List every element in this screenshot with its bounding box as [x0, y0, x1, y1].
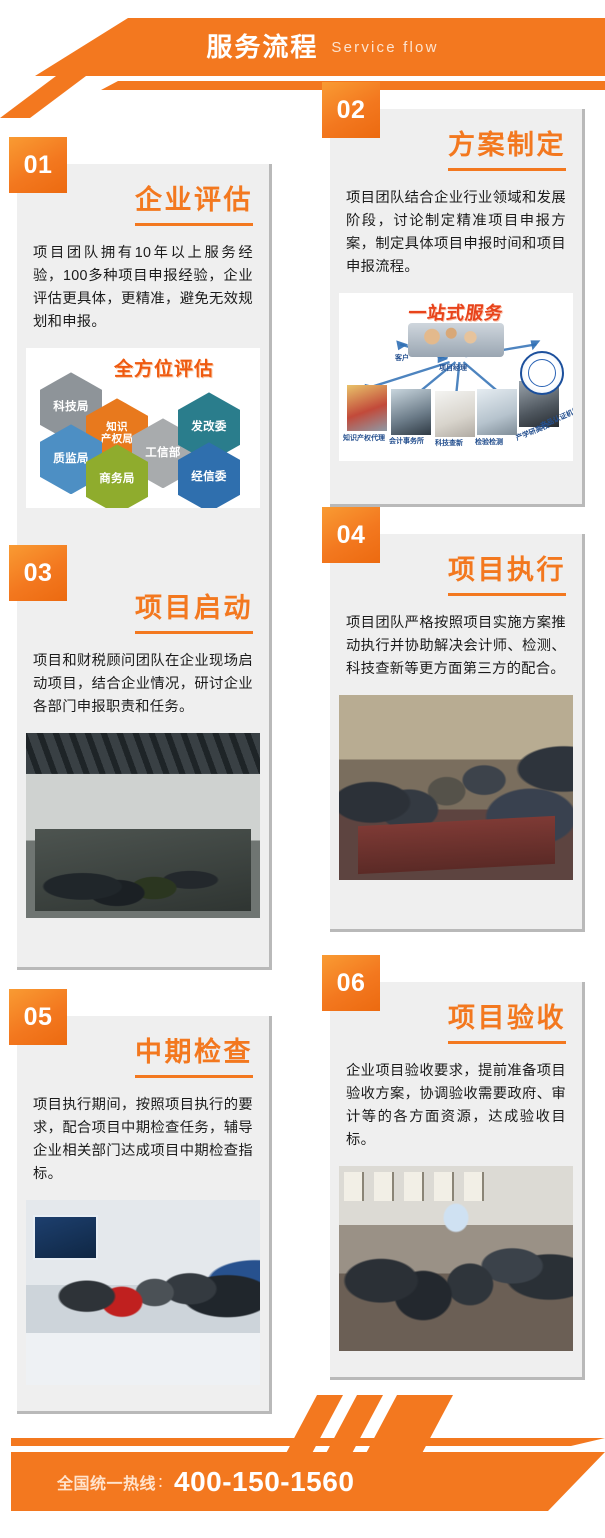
onestop-service-diagram: 一站式服务: [339, 293, 573, 461]
hexagon-evaluation-diagram: 全方位评估 科技局 知识 产权局 质监局 工信部 商务局 发改委 经信委: [26, 348, 260, 508]
photo-showroom-tour: [26, 1200, 260, 1385]
hex-label-1: 知识 产权局: [101, 421, 133, 445]
card-body-06: 企业项目验收要求，提前准备项目验收方案，协调验收需要政府、审计等的各方面资源，达…: [330, 1044, 582, 1163]
chevron-decoration: [300, 1395, 450, 1459]
card-body-02: 项目团队结合企业行业领域和发展阶段，讨论制定精准项目申报方案，制定具体项目申报时…: [330, 171, 582, 290]
card-title-03: 项目启动: [135, 594, 253, 634]
onestop-node-accounting: [391, 389, 431, 435]
step-number-badge-04: 04: [322, 507, 380, 563]
onestop-label-customer: 客户: [395, 353, 409, 363]
process-card-06[interactable]: 06 项目验收 企业项目验收要求，提前准备项目验收方案，协调验收需要政府、审计等…: [330, 982, 585, 1380]
card-media-01: 全方位评估 科技局 知识 产权局 质监局 工信部 商务局 发改委 经信委: [26, 348, 260, 508]
onestop-node-testing: [477, 389, 517, 435]
photo-boardroom-meeting: [339, 1166, 573, 1351]
onestop-label-ip: 知识产权代理: [343, 433, 385, 443]
card-media-03: [26, 733, 260, 918]
onestop-label-accounting: 会计事务所: [389, 436, 424, 446]
card-body-05: 项目执行期间，按照项目执行的要求，配合项目中期检查任务，辅导企业相关部门达成项目…: [17, 1078, 269, 1197]
card-title-05: 中期检查: [135, 1038, 253, 1078]
process-row-2: 03 项目启动 项目和财税顾问团队在企业现场启动项目，结合企业情况，研讨企业各部…: [0, 554, 605, 1004]
process-row-1: 01 企业评估 项目团队拥有10年以上服务经验，100多种项目申报经验，企业评估…: [0, 104, 605, 554]
hex-label-3: 工信部: [145, 447, 180, 460]
process-card-05[interactable]: 05 中期检查 项目执行期间，按照项目执行的要求，配合项目中期检查任务，辅导企业…: [17, 1016, 272, 1414]
card-body-03: 项目和财税顾问团队在企业现场启动项目，结合企业情况，研讨企业各部门申报职责和任务…: [17, 634, 269, 729]
step-number-badge-06: 06: [322, 955, 380, 1011]
process-card-grid: 01 企业评估 项目团队拥有10年以上服务经验，100多种项目申报经验，企业评估…: [0, 104, 605, 1454]
onestop-label-techsearch: 科技查新: [435, 438, 463, 448]
card-body-01: 项目团队拥有10年以上服务经验，100多种项目申报经验，企业评估更具体，更精准，…: [17, 226, 269, 345]
hotline-phone-number[interactable]: 400-150-1560: [174, 1468, 354, 1496]
page-subtitle: Service flow: [331, 40, 438, 55]
process-card-01[interactable]: 01 企业评估 项目团队拥有10年以上服务经验，100多种项目申报经验，企业评估…: [17, 164, 272, 577]
step-number-badge-03: 03: [9, 545, 67, 601]
process-card-04[interactable]: 04 项目执行 项目团队严格按照项目实施方案推动执行并协助解决会计师、检测、科技…: [330, 534, 585, 932]
hex-label-6: 经信委: [191, 471, 226, 484]
step-number-badge-02: 02: [322, 82, 380, 138]
process-card-02[interactable]: 02 方案制定 项目团队结合企业行业领域和发展阶段，讨论制定精准项目申报方案，制…: [330, 109, 585, 507]
onestop-diagram-title: 一站式服务: [407, 299, 506, 325]
card-title-06: 项目验收: [448, 1004, 566, 1044]
card-body-04: 项目团队严格按照项目实施方案推动执行并协助解决会计师、检测、科技查新等更方面第三…: [330, 596, 582, 691]
photo-meeting-laptops: [339, 695, 573, 880]
header-accent-stripe: [0, 81, 605, 90]
hex-label-2: 质监局: [53, 453, 88, 466]
onestop-label-manager: 项目经理: [439, 363, 467, 373]
card-title-02: 方案制定: [448, 131, 566, 171]
page-header: 服务流程 Service flow: [0, 0, 605, 118]
onestop-node-ip: [347, 385, 387, 431]
hex-label-5: 发改委: [191, 421, 226, 434]
iso-seal-icon: [520, 351, 564, 395]
step-number-badge-01: 01: [9, 137, 67, 193]
card-media-05: [26, 1200, 260, 1385]
header-title-group: 服务流程 Service flow: [0, 18, 605, 76]
hotline-separator: ：: [157, 1472, 171, 1492]
onestop-label-testing: 检验检测: [475, 437, 503, 447]
card-title-04: 项目执行: [448, 556, 566, 596]
hex-label-0: 科技局: [53, 401, 88, 414]
card-media-06: [339, 1166, 573, 1351]
card-media-02: 一站式服务: [339, 293, 573, 461]
hotline-group: 全国统一热线 ： 400-150-1560: [57, 1452, 354, 1511]
hotline-label: 全国统一热线: [57, 1470, 156, 1494]
hex-label-4: 商务局: [99, 473, 134, 486]
onestop-node-techsearch: [435, 391, 475, 437]
process-row-3: 05 中期检查 项目执行期间，按照项目执行的要求，配合项目中期检查任务，辅导企业…: [0, 1004, 605, 1454]
page-title: 服务流程: [206, 34, 318, 60]
step-number-badge-05: 05: [9, 989, 67, 1045]
hex-diagram-title: 全方位评估: [114, 354, 214, 381]
card-media-04: [339, 695, 573, 880]
card-title-01: 企业评估: [135, 186, 253, 226]
photo-conference-presentation: [26, 733, 260, 918]
process-card-03[interactable]: 03 项目启动 项目和财税顾问团队在企业现场启动项目，结合企业情况，研讨企业各部…: [17, 572, 272, 970]
onestop-hub-photo: [408, 323, 504, 357]
